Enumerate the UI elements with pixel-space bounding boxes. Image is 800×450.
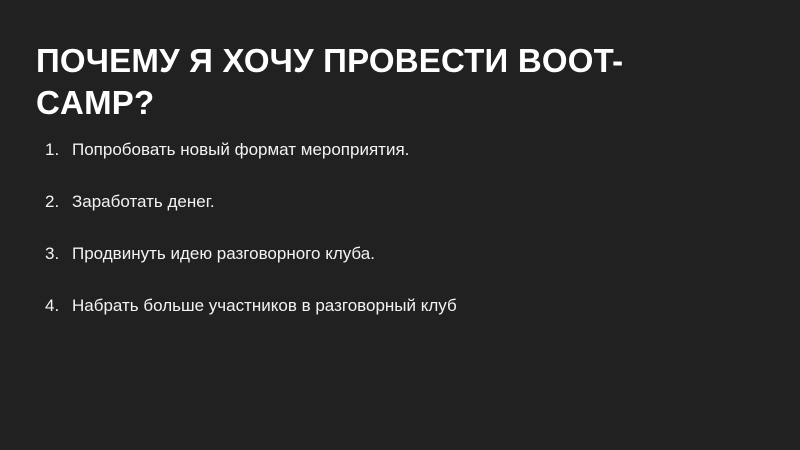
slide-title: Почему я хочу провести Boot-camp?: [36, 40, 696, 124]
slide-body: 1. Попробовать новый формат мероприятия.…: [36, 138, 736, 346]
list-item-number: 1.: [36, 138, 62, 162]
list-item-text: Набрать больше участников в разговорный …: [62, 294, 736, 318]
list-item: 3. Продвинуть идею разговорного клуба.: [36, 242, 736, 294]
list-item-number: 2.: [36, 190, 62, 214]
list-item-text: Заработать денег.: [62, 190, 736, 214]
presentation-slide: Почему я хочу провести Boot-camp? 1. Поп…: [0, 0, 800, 450]
list-item-number: 3.: [36, 242, 62, 266]
list-item-text: Продвинуть идею разговорного клуба.: [62, 242, 736, 266]
numbered-list: 1. Попробовать новый формат мероприятия.…: [36, 138, 736, 346]
list-item: 2. Заработать денег.: [36, 190, 736, 242]
list-item-number: 4.: [36, 294, 62, 318]
list-item: 4. Набрать больше участников в разговорн…: [36, 294, 736, 346]
list-item-text: Попробовать новый формат мероприятия.: [62, 138, 736, 162]
list-item: 1. Попробовать новый формат мероприятия.: [36, 138, 736, 190]
